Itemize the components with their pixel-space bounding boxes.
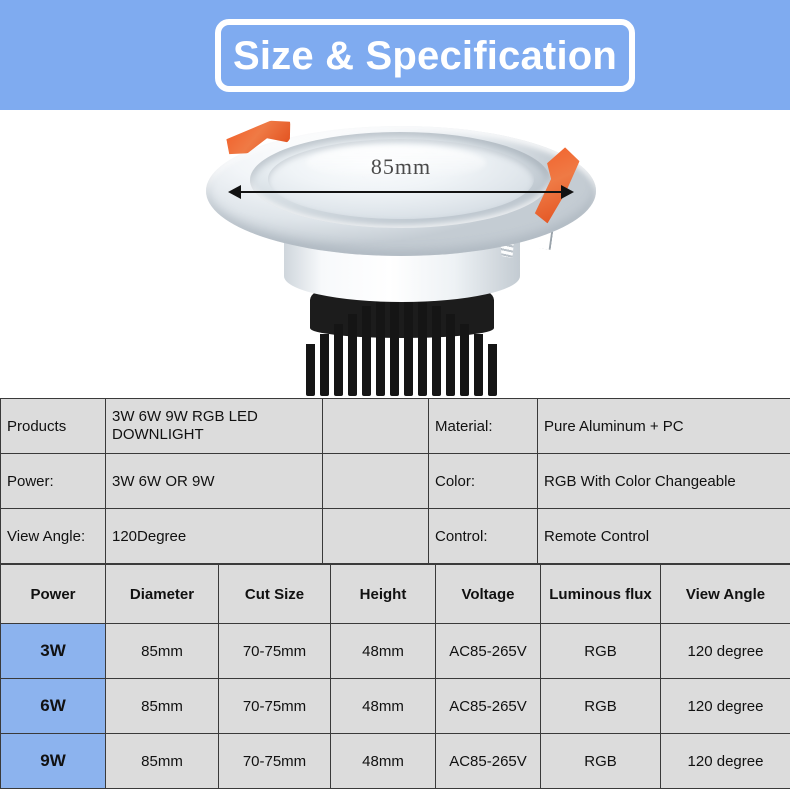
- banner: Size & Specification: [0, 0, 790, 110]
- cell-cut-size: 70-75mm: [219, 624, 331, 679]
- cell-luminous-flux: RGB: [541, 734, 661, 789]
- heatsink-fin: [488, 344, 497, 396]
- info-label-view-angle: View Angle:: [1, 509, 106, 564]
- dimension-arrow-right-icon: [561, 185, 574, 199]
- cell-voltage: AC85-265V: [436, 679, 541, 734]
- cell-power: 6W: [1, 679, 106, 734]
- info-value-color: RGB With Color Changeable: [538, 454, 790, 509]
- cell-voltage: AC85-265V: [436, 624, 541, 679]
- heatsink-fin: [306, 344, 315, 396]
- info-label-material: Material:: [429, 399, 538, 454]
- info-value-view-angle: 120Degree: [106, 509, 323, 564]
- cell-luminous-flux: RGB: [541, 624, 661, 679]
- product-spec-page: Size & Specification: [0, 0, 790, 790]
- page-title: Size & Specification: [233, 36, 617, 76]
- cell-view-angle: 120 degree: [661, 679, 790, 734]
- column-header-cut-size: Cut Size: [219, 565, 331, 624]
- cell-cut-size: 70-75mm: [219, 734, 331, 789]
- cell-view-angle: 120 degree: [661, 624, 790, 679]
- table-row: 6W 85mm 70-75mm 48mm AC85-265V RGB 120 d…: [1, 679, 790, 734]
- info-label-products: Products: [1, 399, 106, 454]
- column-header-power: Power: [1, 565, 106, 624]
- cell-height: 48mm: [331, 679, 436, 734]
- table-row: 9W 85mm 70-75mm 48mm AC85-265V RGB 120 d…: [1, 734, 790, 789]
- heatsink-fin: [348, 314, 357, 396]
- heatsink-fin: [474, 334, 483, 396]
- info-label-control: Control:: [429, 509, 538, 564]
- heatsink-fin: [362, 306, 371, 396]
- dimension-line: [234, 191, 568, 193]
- banner-frame: Size & Specification: [215, 19, 635, 92]
- data-table-header-row: Power Diameter Cut Size Height Voltage L…: [1, 565, 790, 624]
- info-table: Products 3W 6W 9W RGB LED DOWNLIGHT Mate…: [0, 398, 790, 564]
- info-spacer: [323, 509, 429, 564]
- heatsink-fin: [320, 334, 329, 396]
- column-header-voltage: Voltage: [436, 565, 541, 624]
- column-header-view-angle: View Angle: [661, 565, 790, 624]
- column-header-height: Height: [331, 565, 436, 624]
- cell-cut-size: 70-75mm: [219, 679, 331, 734]
- cell-power: 9W: [1, 734, 106, 789]
- heatsink-fin: [390, 296, 399, 396]
- info-spacer: [323, 454, 429, 509]
- cell-diameter: 85mm: [106, 624, 219, 679]
- heatsink-fin: [432, 306, 441, 396]
- heatsink-fin: [376, 300, 385, 396]
- heatsink-fin: [404, 296, 413, 396]
- cell-diameter: 85mm: [106, 734, 219, 789]
- table-row: View Angle: 120Degree Control: Remote Co…: [1, 509, 790, 564]
- heatsink-fin: [460, 324, 469, 396]
- table-row: 3W 85mm 70-75mm 48mm AC85-265V RGB 120 d…: [1, 624, 790, 679]
- cell-height: 48mm: [331, 734, 436, 789]
- product-image: 85mm: [0, 110, 790, 398]
- cell-height: 48mm: [331, 624, 436, 679]
- heatsink-fin: [418, 300, 427, 396]
- info-value-material: Pure Aluminum + PC: [538, 399, 790, 454]
- specification-tables: Products 3W 6W 9W RGB LED DOWNLIGHT Mate…: [0, 398, 790, 790]
- cell-diameter: 85mm: [106, 679, 219, 734]
- data-table: Power Diameter Cut Size Height Voltage L…: [0, 564, 790, 789]
- dimension-label: 85mm: [326, 154, 476, 180]
- downlight-illustration: 85mm: [206, 116, 596, 398]
- heatsink-fin: [446, 314, 455, 396]
- info-label-color: Color:: [429, 454, 538, 509]
- info-spacer: [323, 399, 429, 454]
- cell-voltage: AC85-265V: [436, 734, 541, 789]
- dimension-arrow-left-icon: [228, 185, 241, 199]
- info-label-power: Power:: [1, 454, 106, 509]
- info-value-products: 3W 6W 9W RGB LED DOWNLIGHT: [106, 399, 323, 454]
- heatsink-fin: [334, 324, 343, 396]
- info-value-power: 3W 6W OR 9W: [106, 454, 323, 509]
- info-value-control: Remote Control: [538, 509, 790, 564]
- cell-luminous-flux: RGB: [541, 679, 661, 734]
- cell-power: 3W: [1, 624, 106, 679]
- column-header-diameter: Diameter: [106, 565, 219, 624]
- table-row: Products 3W 6W 9W RGB LED DOWNLIGHT Mate…: [1, 399, 790, 454]
- cell-view-angle: 120 degree: [661, 734, 790, 789]
- table-row: Power: 3W 6W OR 9W Color: RGB With Color…: [1, 454, 790, 509]
- column-header-luminous-flux: Luminous flux: [541, 565, 661, 624]
